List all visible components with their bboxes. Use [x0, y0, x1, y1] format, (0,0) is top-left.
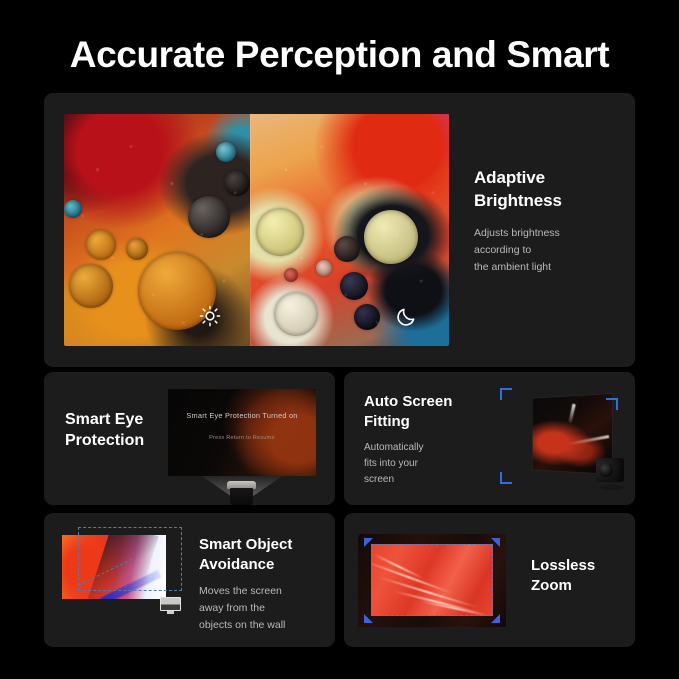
- page-title: Accurate Perception and Smart: [0, 33, 679, 77]
- smart-object-avoidance-illustration: [56, 525, 182, 629]
- hero-bright-half: [64, 114, 250, 346]
- bubble-speckle: [250, 114, 449, 346]
- projector-base: [600, 485, 624, 490]
- zoom-arrow-bottom-left: [364, 614, 373, 623]
- projector-lens: [599, 463, 613, 477]
- hero-dim-half: [250, 114, 449, 346]
- eye-screen-hint: Press Return to Resume: [168, 435, 316, 441]
- eye-screen-message: Smart Eye Protection Turned on: [168, 411, 316, 420]
- moon-icon: [396, 305, 418, 327]
- eye-protection-screen: Smart Eye Protection Turned on Press Ret…: [168, 389, 316, 476]
- smart-object-avoidance-heading: Smart Object Avoidance: [199, 535, 327, 574]
- corner-marker-top-right: [606, 398, 618, 410]
- feature-page: Accurate Perception and Smart: [0, 0, 679, 679]
- bubble-speckle: [64, 114, 250, 346]
- auto-screen-fitting-body: Automatically fits into your screen: [364, 440, 494, 488]
- adaptive-brightness-image: [64, 114, 449, 346]
- zoom-arrow-bottom-right: [491, 614, 500, 623]
- lossless-zoom-text: Lossless Zoom: [531, 556, 631, 596]
- zoom-arrow-top-right: [491, 538, 500, 547]
- projector-icon: [227, 481, 256, 505]
- zoom-arrow-top-left: [364, 538, 373, 547]
- card-lossless-zoom: Lossless Zoom: [344, 513, 635, 647]
- corner-marker-bottom-left: [500, 472, 512, 484]
- lossless-zoom-illustration: [358, 534, 506, 627]
- card-auto-screen-fitting: Auto Screen Fitting Automatically fits i…: [344, 372, 635, 505]
- brightness-split-divider: [250, 114, 251, 346]
- zoom-frame-outline: [371, 544, 493, 616]
- monitor-screen: [160, 597, 181, 611]
- projector-icon: [596, 458, 630, 490]
- adaptive-brightness-heading: Adaptive Brightness: [474, 167, 624, 212]
- adaptive-brightness-text: Adaptive Brightness Adjusts brightness a…: [474, 167, 624, 276]
- auto-screen-fitting-illustration: [484, 380, 634, 500]
- smart-object-avoidance-body: Moves the screen away from the objects o…: [199, 583, 327, 633]
- card-adaptive-brightness: Adaptive Brightness Adjusts brightness a…: [44, 93, 635, 367]
- card-smart-object-avoidance: Smart Object Avoidance Moves the screen …: [44, 513, 335, 647]
- sun-icon: [199, 305, 221, 327]
- lossless-zoom-heading: Lossless Zoom: [531, 556, 631, 596]
- corner-marker-top-left: [500, 388, 512, 400]
- smart-object-avoidance-text: Smart Object Avoidance Moves the screen …: [199, 535, 327, 633]
- screen-streak: [568, 435, 608, 445]
- monitor-stand: [167, 611, 174, 614]
- adaptive-brightness-body: Adjusts brightness according to the ambi…: [474, 225, 624, 276]
- auto-screen-fitting-text: Auto Screen Fitting Automatically fits i…: [364, 392, 494, 488]
- auto-screen-fitting-heading: Auto Screen Fitting: [364, 392, 494, 431]
- projector-body: [230, 488, 253, 505]
- screen-glint: [568, 404, 575, 423]
- monitor-icon: [160, 597, 181, 615]
